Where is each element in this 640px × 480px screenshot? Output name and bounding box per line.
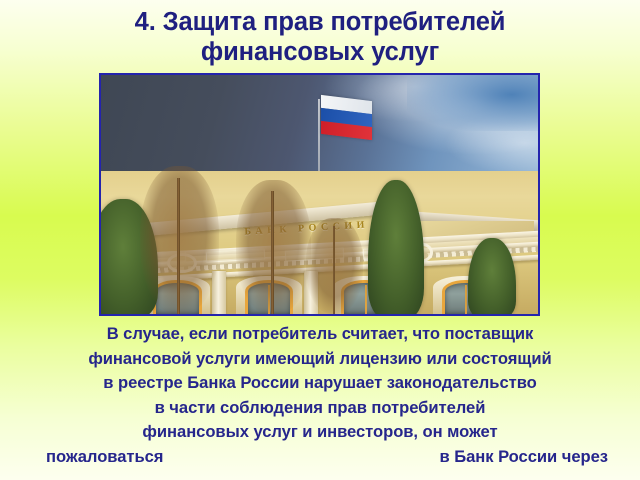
body-paragraph: В случае, если потребитель считает, что …: [22, 322, 618, 470]
slide: 4. Защита прав потребителей финансовых у…: [0, 0, 640, 480]
body-line-3: в реестре Банка России нарушает законода…: [22, 371, 618, 396]
blue-sky-patch: [407, 75, 538, 131]
title-line-1: 4. Защита прав потребителей: [40, 7, 600, 37]
russian-flag-icon: [321, 95, 372, 141]
body-line-6-left: пожаловаться: [46, 445, 163, 470]
tree-trunk: [177, 178, 180, 314]
bare-tree: [306, 218, 363, 314]
body-line-6-right: в Банк России через: [440, 445, 608, 470]
body-line-6: пожаловаться в Банк России через: [22, 445, 618, 470]
body-line-2: финансовой услуги имеющий лицензию или с…: [22, 347, 618, 372]
body-line-4: в части соблюдения прав потребителей: [22, 396, 618, 421]
tree-trunk: [333, 226, 335, 314]
body-line-1: В случае, если потребитель считает, что …: [22, 322, 618, 347]
title-line-2: финансовых услуг: [40, 37, 600, 67]
tree-trunk: [271, 191, 274, 314]
bank-of-russia-photo: БАНК РОССИИ: [99, 73, 540, 316]
body-line-5: финансовых услуг и инвесторов, он может: [22, 420, 618, 445]
page-title: 4. Защита прав потребителей финансовых у…: [40, 7, 600, 67]
bare-tree: [236, 180, 310, 314]
photo-canvas: БАНК РОССИИ: [101, 75, 538, 314]
bare-tree: [140, 166, 219, 314]
